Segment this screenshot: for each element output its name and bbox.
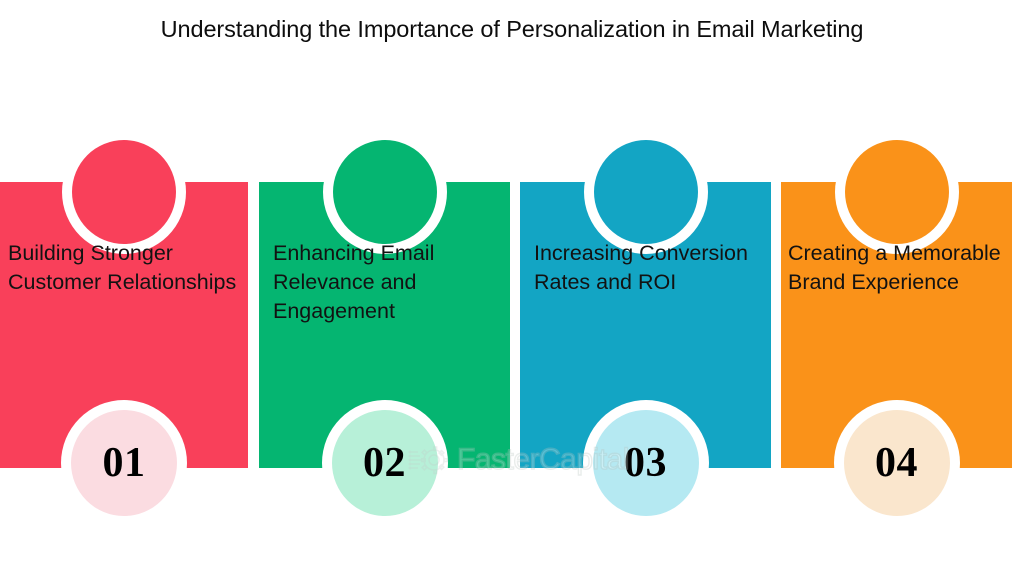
number-badge-3[interactable]: 03 bbox=[593, 410, 699, 516]
column-label-2: Enhancing Email Relevance and Engagement bbox=[273, 239, 500, 326]
number-badge-label-1: 01 bbox=[103, 442, 146, 484]
infographic-column-4[interactable]: Creating a Memorable Brand Experience 04 bbox=[781, 182, 1012, 468]
infographic-column-1[interactable]: Building Stronger Customer Relationships… bbox=[0, 182, 248, 468]
top-circle-dot-3 bbox=[594, 140, 698, 244]
number-badge-label-4: 04 bbox=[875, 442, 918, 484]
top-circle-dot-4 bbox=[845, 140, 949, 244]
number-badge-label-2: 02 bbox=[363, 442, 406, 484]
infographic-column-2[interactable]: Enhancing Email Relevance and Engagement… bbox=[259, 182, 510, 468]
infographic-column-3[interactable]: Increasing Conversion Rates and ROI 03 bbox=[520, 182, 771, 468]
column-label-3: Increasing Conversion Rates and ROI bbox=[534, 239, 761, 297]
page-title: Understanding the Importance of Personal… bbox=[0, 16, 1024, 43]
infographic-canvas: Understanding the Importance of Personal… bbox=[0, 0, 1024, 575]
number-badge-2[interactable]: 02 bbox=[332, 410, 438, 516]
number-badge-4[interactable]: 04 bbox=[844, 410, 950, 516]
top-circle-dot-2 bbox=[333, 140, 437, 244]
column-label-4: Creating a Memorable Brand Experience bbox=[788, 239, 1008, 297]
number-badge-1[interactable]: 01 bbox=[71, 410, 177, 516]
number-badge-label-3: 03 bbox=[624, 442, 667, 484]
column-label-1: Building Stronger Customer Relationships bbox=[8, 239, 238, 297]
top-circle-dot-1 bbox=[72, 140, 176, 244]
